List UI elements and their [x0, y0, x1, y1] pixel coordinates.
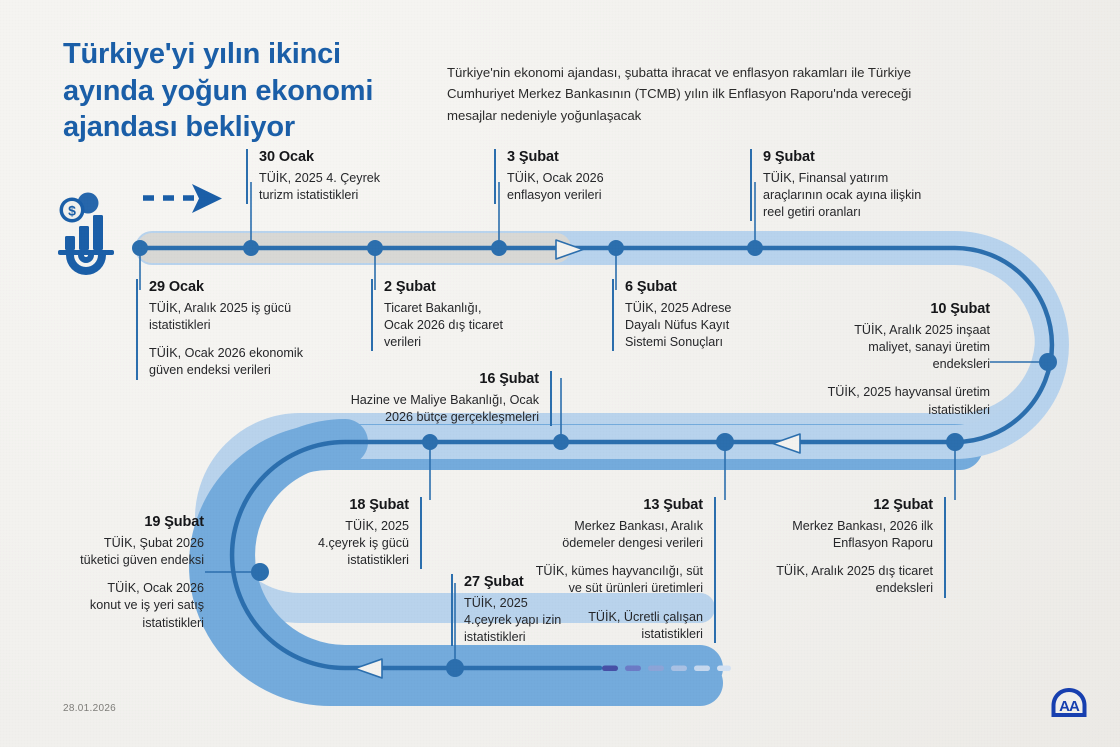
milestone-29-ocak[interactable]: 29 Ocak TÜİK, Aralık 2025 iş gücü istati…: [136, 279, 341, 380]
svg-text:$: $: [68, 203, 76, 219]
node-13-subat[interactable]: [716, 433, 734, 451]
node-29-ocak[interactable]: [132, 240, 148, 256]
milestone-day: 10 Şubat: [800, 301, 990, 317]
node-12-subat[interactable]: [946, 433, 964, 451]
milestone-18-subat[interactable]: 18 Şubat TÜİK, 2025 4.çeyrek iş gücü ist…: [314, 497, 422, 569]
aa-logo: AA: [1048, 686, 1090, 720]
milestone-line: TÜİK, 2025 4.çeyrek iş gücü istatistikle…: [314, 518, 409, 569]
milestone-day: 16 Şubat: [336, 371, 539, 387]
milestone-12-subat[interactable]: 12 Şubat Merkez Bankası, 2026 ilk Enflas…: [772, 497, 946, 598]
node-10-subat[interactable]: [1039, 353, 1057, 371]
node-6-subat[interactable]: [608, 240, 624, 256]
milestone-line: TÜİK, 2025 Adrese Dayalı Nüfus Kayıt Sis…: [625, 300, 792, 351]
node-16-subat[interactable]: [553, 434, 569, 450]
milestone-27-subat[interactable]: 27 Şubat TÜİK, 2025 4.çeyrek yapı izin i…: [451, 574, 571, 646]
milestone-day: 3 Şubat: [507, 149, 644, 165]
milestone-day: 2 Şubat: [384, 279, 546, 295]
node-9-subat[interactable]: [747, 240, 763, 256]
node-2-subat[interactable]: [367, 240, 383, 256]
milestone-day: 19 Şubat: [58, 514, 204, 530]
milestone-day: 6 Şubat: [625, 279, 792, 295]
page-title: Türkiye'yi yılın ikinci ayında yoğun eko…: [63, 36, 423, 146]
milestone-30-ocak[interactable]: 30 Ocak TÜİK, 2025 4. Çeyrek turizm ista…: [246, 149, 406, 204]
infographic-canvas: $ AA Türkiye'yi yılın ikinci ayında yoğu…: [0, 0, 1120, 747]
node-3-subat[interactable]: [491, 240, 507, 256]
milestone-line: TÜİK, 2025 4.çeyrek yapı izin istatistik…: [464, 595, 571, 646]
node-30-ocak[interactable]: [243, 240, 259, 256]
milestone-day: 27 Şubat: [464, 574, 571, 590]
node-19-subat[interactable]: [251, 563, 269, 581]
milestone-19-subat[interactable]: 19 Şubat TÜİK, Şubat 2026 tüketici güven…: [58, 514, 204, 632]
milestone-line: TÜİK, Aralık 2025 inşaat maliyet, sanayi…: [800, 322, 990, 373]
milestone-line: TÜİK, Ocak 2026 konut ve iş yeri satış i…: [58, 580, 204, 631]
milestone-10-subat[interactable]: 10 Şubat TÜİK, Aralık 2025 inşaat maliye…: [800, 301, 990, 419]
milestone-line: TÜİK, Aralık 2025 iş gücü istatistikleri: [149, 300, 341, 334]
milestone-day: 18 Şubat: [314, 497, 409, 513]
milestone-6-subat[interactable]: 6 Şubat TÜİK, 2025 Adrese Dayalı Nüfus K…: [612, 279, 792, 351]
node-27-subat[interactable]: [446, 659, 464, 677]
milestone-line: Ticaret Bakanlığı, Ocak 2026 dış ticaret…: [384, 300, 546, 351]
milestone-day: 29 Ocak: [149, 279, 341, 295]
milestone-line: TÜİK, Şubat 2026 tüketici güven endeksi: [58, 535, 204, 569]
milestone-day: 30 Ocak: [259, 149, 406, 165]
milestone-line: TÜİK, Aralık 2025 dış ticaret endeksleri: [772, 563, 933, 597]
milestone-line: TÜİK, 2025 hayvansal üretim istatistikle…: [800, 384, 990, 418]
svg-text:AA: AA: [1059, 698, 1080, 715]
page-subtitle: Türkiye'nin ekonomi ajandası, şubatta ih…: [447, 62, 952, 126]
milestone-2-subat[interactable]: 2 Şubat Ticaret Bakanlığı, Ocak 2026 dış…: [371, 279, 546, 351]
milestone-line: Merkez Bankası, 2026 ilk Enflasyon Rapor…: [772, 518, 933, 552]
publish-date: 28.01.2026: [63, 703, 116, 714]
milestone-16-subat[interactable]: 16 Şubat Hazine ve Maliye Bakanlığı, Oca…: [336, 371, 552, 426]
milestone-line: TÜİK, 2025 4. Çeyrek turizm istatistikle…: [259, 170, 406, 204]
milestone-day: 12 Şubat: [772, 497, 933, 513]
milestone-day: 9 Şubat: [763, 149, 945, 165]
milestone-line: Merkez Bankası, Aralık ödemeler dengesi …: [528, 518, 703, 552]
milestone-line: Hazine ve Maliye Bakanlığı, Ocak 2026 bü…: [336, 392, 539, 426]
milestone-line: TÜİK, Ocak 2026 ekonomik güven endeksi v…: [149, 345, 341, 379]
economy-gear-chart-coin-icon: $: [48, 186, 134, 278]
node-18-subat[interactable]: [422, 434, 438, 450]
milestone-line: TÜİK, Finansal yatırım araçlarının ocak …: [763, 170, 945, 221]
milestone-3-subat[interactable]: 3 Şubat TÜİK, Ocak 2026 enflasyon verile…: [494, 149, 644, 204]
milestone-day: 13 Şubat: [528, 497, 703, 513]
milestone-9-subat[interactable]: 9 Şubat TÜİK, Finansal yatırım araçların…: [750, 149, 945, 221]
milestone-line: TÜİK, Ocak 2026 enflasyon verileri: [507, 170, 644, 204]
